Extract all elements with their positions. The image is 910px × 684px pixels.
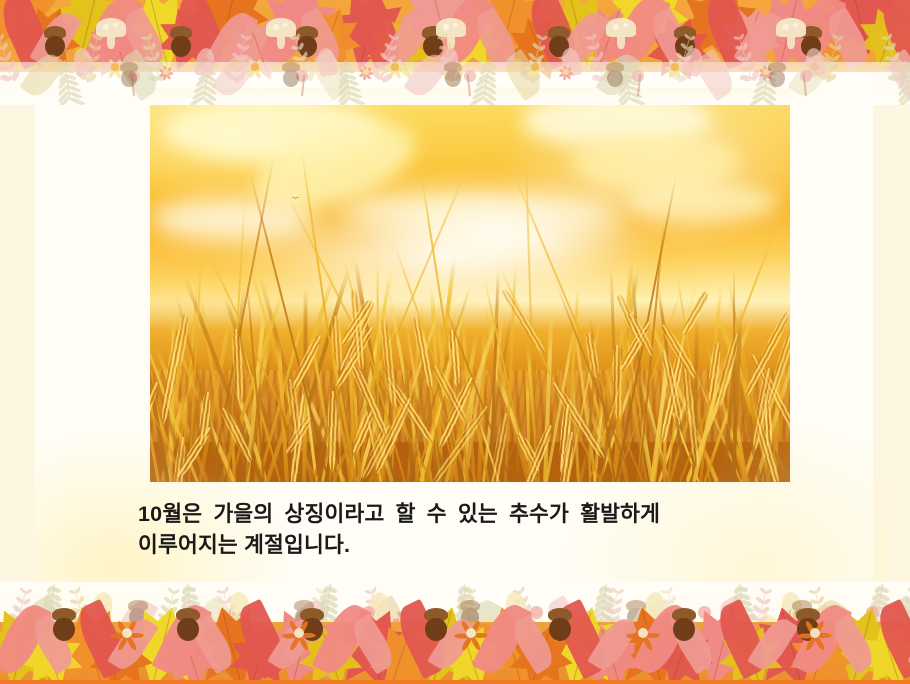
flower-petal <box>901 619 910 623</box>
flower-petal <box>900 620 908 631</box>
leaf-vein <box>879 12 900 67</box>
flower-petal <box>894 611 902 622</box>
sprig-icon <box>12 589 27 640</box>
caption-line-1: 10월은 가을의 상징이라고 할 수 있는 추수가 활발하게 <box>138 499 798 530</box>
fern-frond <box>906 73 910 82</box>
leaf-icon <box>871 599 910 680</box>
caption-text: 10월은 가을의 상징이라고 할 수 있는 추수가 활발하게 이루어지는 계절입… <box>138 499 798 560</box>
sprig-leaflet <box>16 595 24 603</box>
leaf-vein <box>10 0 29 50</box>
photo-inner <box>150 88 790 482</box>
leaf-vein <box>12 612 31 684</box>
fern-frond <box>897 79 909 90</box>
sprig-leaflet <box>18 615 29 624</box>
sprig-leaflet <box>6 620 17 632</box>
fern-frond <box>904 61 910 68</box>
sprig-leaflet <box>895 60 905 71</box>
sprig-leaflet <box>4 51 13 60</box>
sprig-leaflet <box>3 628 15 641</box>
leaf-icon <box>885 595 910 651</box>
fern-frond <box>897 96 910 105</box>
leaf-icon <box>875 0 910 70</box>
sprig-leaflet <box>2 42 9 50</box>
fern-frond <box>897 67 907 76</box>
fern-frond <box>905 67 910 75</box>
fern-frond <box>898 62 907 70</box>
fern-frond <box>906 79 910 88</box>
sprig-leaflet <box>887 33 893 40</box>
sprig-leaflet <box>10 69 21 81</box>
sprig-leaflet <box>20 607 30 615</box>
sprig-leaflet <box>891 628 903 641</box>
fern-frond <box>876 624 892 638</box>
sprig-leaflet <box>22 598 31 605</box>
fern-frond <box>879 592 890 602</box>
sprig-leaflet <box>10 612 20 623</box>
sprig-icon <box>885 35 901 80</box>
sprig-leaflet <box>898 612 908 623</box>
sprig-icon <box>900 589 910 640</box>
maple-leaf-icon <box>877 0 910 73</box>
leaf-vein <box>881 629 900 684</box>
sprig-stem <box>901 589 910 640</box>
fern-frond <box>880 586 889 595</box>
sprig-leaflet <box>898 69 909 81</box>
sprig-leaflet <box>13 604 22 614</box>
sprig-leaflet <box>0 73 12 82</box>
sprig-icon <box>0 35 13 80</box>
maple-leaf-icon <box>875 600 910 684</box>
sprig-leaflet <box>886 64 897 72</box>
sprig-leaflet <box>906 615 910 624</box>
sprig-leaflet <box>892 51 901 60</box>
leaf-icon <box>883 49 910 102</box>
fern-frond <box>878 605 891 617</box>
sprig-leaflet <box>894 620 905 632</box>
rice-stalks-layer <box>150 88 790 482</box>
sprig-leaflet <box>904 595 910 603</box>
sprig-leaflet <box>883 45 891 51</box>
fern-frond <box>897 91 910 104</box>
fern-icon <box>887 56 910 100</box>
sprig-stem <box>0 36 12 81</box>
sprig-leaflet <box>0 55 6 62</box>
sprig-leaflet <box>890 42 897 50</box>
flower-center <box>897 615 904 622</box>
fern-frond <box>877 611 891 624</box>
fern-frond <box>897 85 910 97</box>
sprig-leaflet <box>884 55 894 62</box>
maple-leaf-icon <box>879 597 910 684</box>
fern-frond <box>873 585 883 593</box>
sprig-leaflet <box>0 64 9 72</box>
fern-stem <box>877 584 883 626</box>
sprig-leaflet <box>13 632 26 643</box>
sprig-stem <box>13 589 27 640</box>
flower-petal <box>900 611 908 622</box>
fern-frond <box>879 599 891 610</box>
flower-icon <box>890 608 910 630</box>
sprig-leaflet <box>888 73 900 82</box>
sprig-leaflet <box>19 587 26 594</box>
rice-field-sunset-photo <box>150 88 790 482</box>
sprig-leaflet <box>903 624 910 634</box>
sprig-leaflet <box>25 589 32 595</box>
sprig-leaflet <box>7 60 17 71</box>
sprig-leaflet <box>881 36 888 41</box>
fern-stem <box>904 60 910 98</box>
flower-petal <box>890 619 900 623</box>
sprig-leaflet <box>901 632 910 643</box>
sprig-leaflet <box>15 624 27 634</box>
fern-frond <box>877 618 892 631</box>
caption-line-2: 이루어지는 계절입니다. <box>138 530 798 561</box>
sprig-stem <box>886 36 900 81</box>
fern-frond <box>897 73 908 83</box>
slide-root: 10월은 가을의 상징이라고 할 수 있는 추수가 활발하게 이루어지는 계절입… <box>0 0 910 684</box>
sprig-leaflet <box>0 33 5 40</box>
flower-petal <box>894 620 902 631</box>
sprig-leaflet <box>901 604 910 614</box>
rice-grain-ear <box>327 391 337 472</box>
sprig-leaflet <box>0 45 3 51</box>
